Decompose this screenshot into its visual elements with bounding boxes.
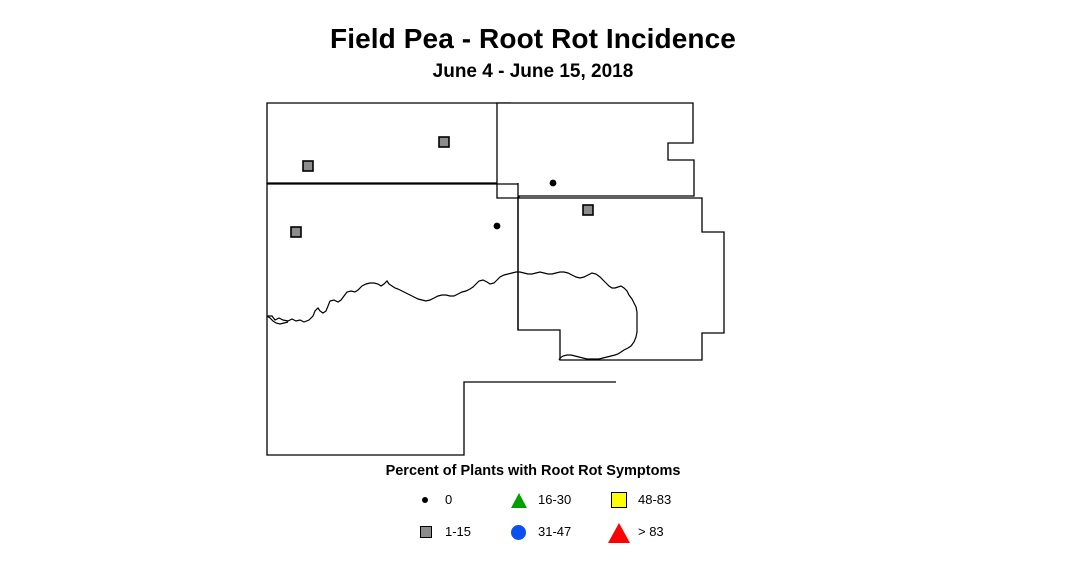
legend-item-1[interactable]: 1-15 — [413, 520, 471, 544]
legend-item-label: 31-47 — [538, 524, 571, 540]
marker-site-6[interactable] — [494, 223, 501, 230]
dot-black-icon[interactable] — [494, 223, 501, 230]
county-map — [0, 0, 1066, 470]
legend-item-label: 48-83 — [638, 492, 671, 508]
legend-item-label: 16-30 — [538, 492, 571, 508]
square-yellow-icon — [606, 489, 632, 511]
legend-item-5[interactable]: > 83 — [606, 520, 664, 544]
legend-item-label: 0 — [445, 492, 452, 508]
legend-title: Percent of Plants with Root Rot Symptoms — [0, 462, 1066, 480]
dot-black-icon[interactable] — [550, 180, 557, 187]
marker-site-2[interactable] — [303, 161, 313, 171]
marker-site-4[interactable] — [583, 205, 593, 215]
marker-site-3[interactable] — [291, 227, 301, 237]
county-outline-northeast — [497, 103, 694, 198]
county-outline-east — [518, 198, 724, 360]
legend-item-2[interactable]: 16-30 — [506, 488, 571, 512]
square-gray-icon[interactable] — [583, 205, 593, 215]
legend-item-label: > 83 — [638, 524, 664, 540]
triangle-red-icon — [606, 521, 632, 543]
map-page: Field Pea - Root Rot Incidence June 4 - … — [0, 0, 1066, 561]
map-area — [0, 0, 1066, 470]
marker-site-1[interactable] — [439, 137, 449, 147]
legend-item-4[interactable]: 48-83 — [606, 488, 671, 512]
dot-black-icon — [413, 489, 439, 511]
square-gray-icon[interactable] — [303, 161, 313, 171]
legend: Percent of Plants with Root Rot Symptoms… — [0, 462, 1066, 548]
square-gray-icon[interactable] — [291, 227, 301, 237]
legend-item-label: 1-15 — [445, 524, 471, 540]
triangle-green-icon — [506, 489, 532, 511]
square-gray-icon — [413, 521, 439, 543]
legend-item-3[interactable]: 31-47 — [506, 520, 571, 544]
circle-blue-icon — [506, 521, 532, 543]
legend-item-0[interactable]: 0 — [413, 488, 452, 512]
square-gray-icon[interactable] — [439, 137, 449, 147]
legend-grid: 0 1-15 16-30 31-47 48-83 > 83 — [368, 488, 698, 548]
marker-site-5[interactable] — [550, 180, 557, 187]
